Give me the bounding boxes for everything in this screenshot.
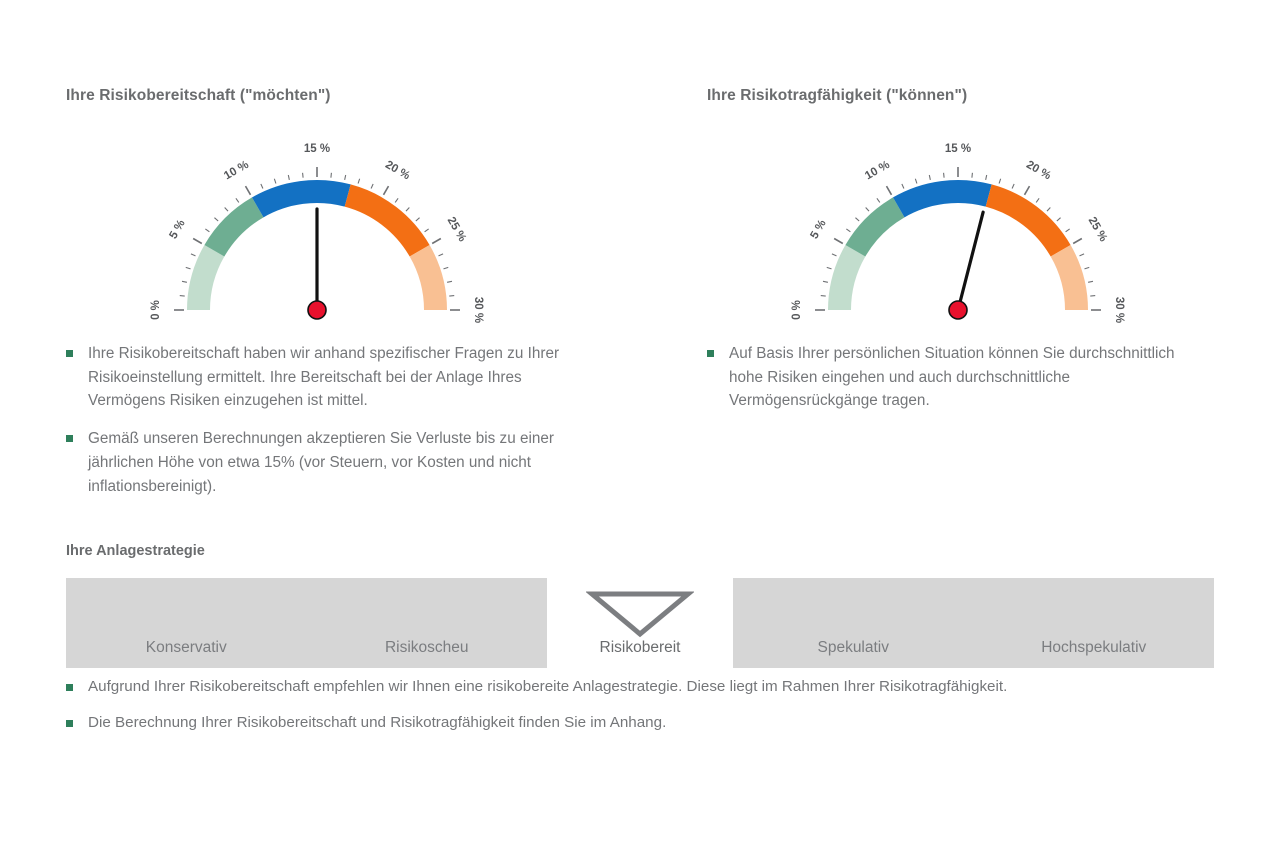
gauge-minor-tick [944,173,945,178]
gauge-major-tick [834,239,843,244]
gauge-band-2 [252,180,351,217]
gauge-minor-tick [447,281,452,282]
gauge-minor-tick [416,218,420,221]
gauge-risikotragfaehigkeit: 0 %5 %10 %15 %20 %25 %30 % [793,140,1123,330]
bullet-risikobereitschaft-item: Ihre Risikobereitschaft haben wir anhand… [66,342,586,413]
gauge-minor-tick [425,229,429,232]
triangle-down-icon [586,590,694,638]
gauge-minor-tick [986,175,987,180]
gauge-minor-tick [902,184,904,189]
gauge-minor-tick [866,207,869,211]
gauge-minor-tick [449,296,454,297]
gauge-minor-tick [225,207,228,211]
bullet-text: Gemäß unseren Berechnungen akzeptieren S… [88,427,586,498]
gauge-major-tick [887,186,892,195]
gauge-minor-tick [180,296,185,297]
strategy-segment-spekulativ[interactable]: Spekulativ [733,578,974,668]
bullet-square-icon [66,435,73,442]
gauge-minor-tick [999,179,1001,184]
strategy-segment-risikobereit[interactable]: Risikobereit [547,578,733,668]
gauge-minor-tick [1047,207,1050,211]
bullet-anlagestrategie-item: Aufgrund Ihrer Risikobereitschaft empfeh… [66,676,1216,699]
gauge-band-1 [845,197,904,256]
risk-profile-page: Ihre Risikobereitschaft ("möchten") Ihre… [0,0,1280,854]
gauge-tick-label: 0 % [791,300,803,320]
bullet-square-icon [707,350,714,357]
gauge-tick-label: 20 % [383,159,412,183]
gauge-minor-tick [972,173,973,178]
bullet-square-icon [66,684,73,691]
bullet-square-icon [66,720,73,727]
gauge-tick-label: 10 % [222,159,251,183]
gauge-tick-label: 30 % [472,297,484,323]
gauge-minor-tick [1057,218,1061,221]
gauge-tick-label: 25 % [445,215,469,244]
gauge-minor-tick [182,281,187,282]
strategy-segment-hochspekulativ[interactable]: Hochspekulativ [974,578,1215,668]
section-title-anlagestrategie: Ihre Anlagestrategie [66,543,205,559]
gauge-minor-tick [827,267,832,269]
gauge-tick-label: 10 % [863,159,892,183]
gauge-minor-tick [331,173,332,178]
gauge-major-tick [1025,186,1030,195]
strategy-segment-risikoscheu[interactable]: Risikoscheu [307,578,548,668]
gauge-minor-tick [1084,267,1089,269]
gauge-minor-tick [395,198,398,202]
gauge-minor-tick [186,267,191,269]
gauge-hub [308,301,326,319]
gauge-minor-tick [345,175,346,180]
strategy-segment-label: Konservativ [146,639,227,657]
gauge-major-tick [1073,239,1082,244]
bullet-risikobereitschaft-item: Gemäß unseren Berechnungen akzeptieren S… [66,427,586,498]
gauge-minor-tick [214,218,218,221]
bullet-list-risikobereitschaft: Ihre Risikobereitschaft haben wir anhand… [66,342,586,512]
gauge-tick-label: 0 % [150,300,162,320]
gauge-tick-label: 5 % [808,218,828,241]
strategy-segment-label: Spekulativ [817,639,889,657]
gauge-minor-tick [371,184,373,189]
bullet-text: Auf Basis Ihrer persönlichen Situation k… [729,342,1187,413]
page-title-risikotragfaehigkeit: Ihre Risikotragfähigkeit ("können") [707,87,967,105]
gauge-major-tick [246,186,251,195]
gauge-minor-tick [274,179,276,184]
bullet-list-anlagestrategie: Aufgrund Ihrer Risikobereitschaft empfeh… [66,676,1216,748]
gauge-minor-tick [191,254,196,256]
gauge-minor-tick [439,254,444,256]
gauge-minor-tick [236,198,239,202]
gauge-hub [949,301,967,319]
gauge-minor-tick [832,254,837,256]
strategy-segment-label: Hochspekulativ [1041,639,1146,657]
gauge-tick-label: 30 % [1113,297,1125,323]
gauge-major-tick [384,186,389,195]
gauge-minor-tick [821,296,826,297]
gauge-tick-label: 15 % [304,143,330,155]
gauge-minor-tick [915,179,917,184]
bullet-list-risikotragfaehigkeit: Auf Basis Ihrer persönlichen Situation k… [707,342,1187,427]
gauge-minor-tick [929,175,930,180]
strategy-segment-konservativ[interactable]: Konservativ [66,578,307,668]
gauge-minor-tick [443,267,448,269]
bullet-text: Aufgrund Ihrer Risikobereitschaft empfeh… [88,676,1007,699]
gauge-minor-tick [205,229,209,232]
gauge-major-tick [193,239,202,244]
gauge-minor-tick [406,207,409,211]
gauge-tick-label: 25 % [1086,215,1110,244]
gauge-minor-tick [1090,296,1095,297]
strategy-scale: KonservativRisikoscheuRisikobereitSpekul… [66,578,1214,668]
gauge-minor-tick [846,229,850,232]
gauge-band-2 [893,180,992,217]
gauge-minor-tick [1036,198,1039,202]
strategy-segment-label: Risikobereit [600,639,681,657]
gauge-minor-tick [1012,184,1014,189]
gauge-risikobereitschaft: 0 %5 %10 %15 %20 %25 %30 % [152,140,482,330]
gauge-minor-tick [358,179,360,184]
gauge-band-1 [204,197,263,256]
gauge-tick-label: 5 % [167,218,187,241]
gauge-tick-label: 15 % [945,143,971,155]
gauge-major-tick [432,239,441,244]
bullet-text: Die Berechnung Ihrer Risikobereitschaft … [88,712,666,735]
gauge-minor-tick [1066,229,1070,232]
bullet-square-icon [66,350,73,357]
gauge-minor-tick [855,218,859,221]
gauge-minor-tick [823,281,828,282]
gauge-minor-tick [1080,254,1085,256]
gauge-minor-tick [261,184,263,189]
bullet-text: Ihre Risikobereitschaft haben wir anhand… [88,342,586,413]
gauge-needle [958,212,983,310]
bullet-anlagestrategie-item: Die Berechnung Ihrer Risikobereitschaft … [66,712,1216,735]
strategy-segment-label: Risikoscheu [385,639,469,657]
bullet-risikotragfaehigkeit-item: Auf Basis Ihrer persönlichen Situation k… [707,342,1187,413]
gauge-tick-label: 20 % [1024,159,1053,183]
gauge-minor-tick [288,175,289,180]
gauge-minor-tick [877,198,880,202]
gauge-minor-tick [303,173,304,178]
page-title-risikobereitschaft: Ihre Risikobereitschaft ("möchten") [66,87,331,105]
gauge-minor-tick [1088,281,1093,282]
